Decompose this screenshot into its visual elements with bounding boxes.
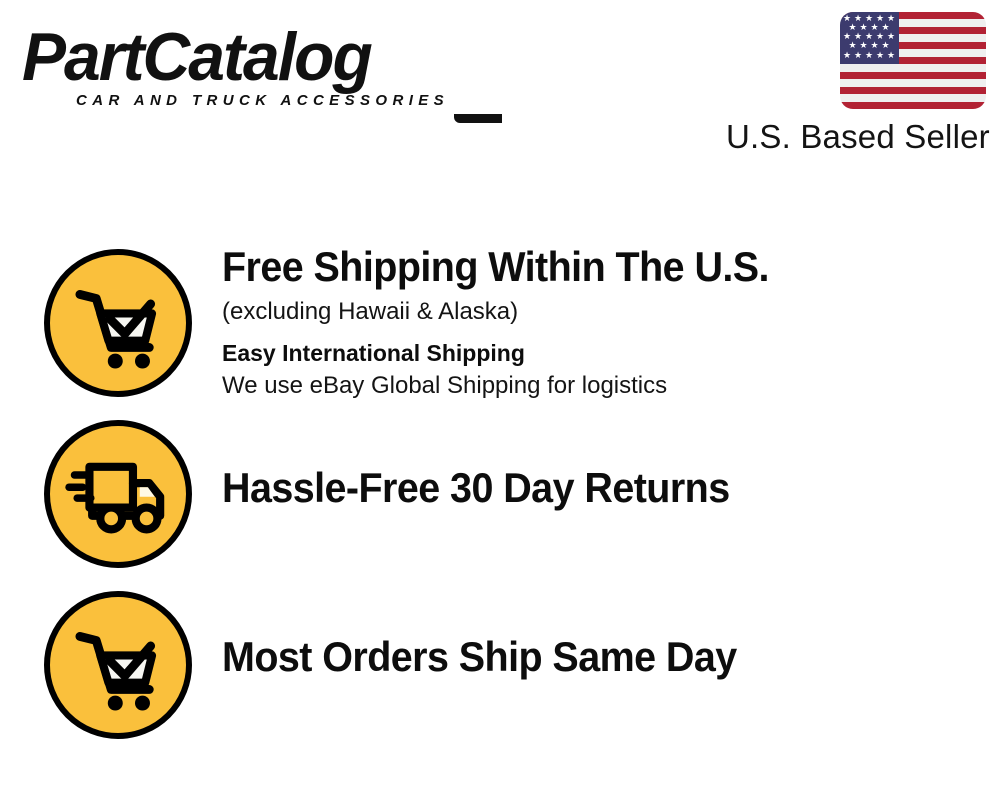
flag-star — [854, 33, 861, 40]
flag-stripe — [840, 102, 986, 109]
flag-star — [871, 24, 878, 31]
feature-sub-title: Easy International Shipping — [222, 337, 982, 369]
feature-headline: Hassle-Free 30 Day Returns — [222, 462, 936, 514]
logo-wordmark: PartCatalog — [22, 22, 478, 92]
flag-star — [843, 15, 850, 22]
feature-text-block: Hassle-Free 30 Day Returns — [222, 462, 982, 514]
feature-text-block: Free Shipping Within The U.S. (excluding… — [222, 241, 982, 402]
flag-star — [876, 15, 883, 22]
delivery-truck-icon — [44, 420, 192, 568]
flag-stripe — [840, 87, 986, 94]
feature-sub-note: We use eBay Global Shipping for logistic… — [222, 369, 982, 402]
banner-header: PartCatalog CAR AND TRUCK ACCESSORIES — [0, 0, 1000, 175]
feature-row: Hassle-Free 30 Day Returns — [0, 420, 1000, 570]
flag-star — [860, 42, 867, 49]
partcatalog-logo: PartCatalog CAR AND TRUCK ACCESSORIES — [22, 22, 492, 117]
seller-policy-banner: PartCatalog CAR AND TRUCK ACCESSORIES — [0, 0, 1000, 800]
feature-headline: Most Orders Ship Same Day — [222, 631, 936, 683]
feature-note: (excluding Hawaii & Alaska) — [222, 295, 982, 329]
flag-star — [876, 52, 883, 59]
feature-text-block: Most Orders Ship Same Day — [222, 631, 982, 683]
us-based-seller-label: U.S. Based Seller — [726, 117, 990, 157]
flag-star — [843, 33, 850, 40]
flag-star — [865, 15, 872, 22]
flag-star — [849, 24, 856, 31]
feature-headline: Free Shipping Within The U.S. — [222, 241, 936, 293]
flag-stripe — [840, 64, 986, 71]
flag-star — [843, 52, 850, 59]
flag-star — [871, 42, 878, 49]
flag-canton — [840, 12, 899, 64]
shopping-cart-check-icon — [44, 249, 192, 397]
flag-star — [854, 15, 861, 22]
flag-stripe — [840, 72, 986, 79]
flag-star — [865, 33, 872, 40]
flag-star — [860, 24, 867, 31]
shopping-cart-check-icon — [44, 591, 192, 739]
flag-star — [865, 52, 872, 59]
flag-star — [849, 42, 856, 49]
feature-row: Most Orders Ship Same Day — [0, 591, 1000, 741]
flag-star — [882, 42, 889, 49]
us-flag-icon — [840, 12, 986, 109]
logo-tagline: CAR AND TRUCK ACCESSORIES — [76, 92, 449, 109]
flag-star — [887, 33, 894, 40]
flag-star — [887, 52, 894, 59]
flag-star — [854, 52, 861, 59]
logo-swash-decoration — [454, 114, 502, 123]
flag-stripe — [840, 94, 986, 101]
flag-star — [887, 15, 894, 22]
flag-star — [882, 24, 889, 31]
flag-stripe — [840, 79, 986, 86]
feature-row: Free Shipping Within The U.S. (excluding… — [0, 249, 1000, 409]
flag-star — [876, 33, 883, 40]
